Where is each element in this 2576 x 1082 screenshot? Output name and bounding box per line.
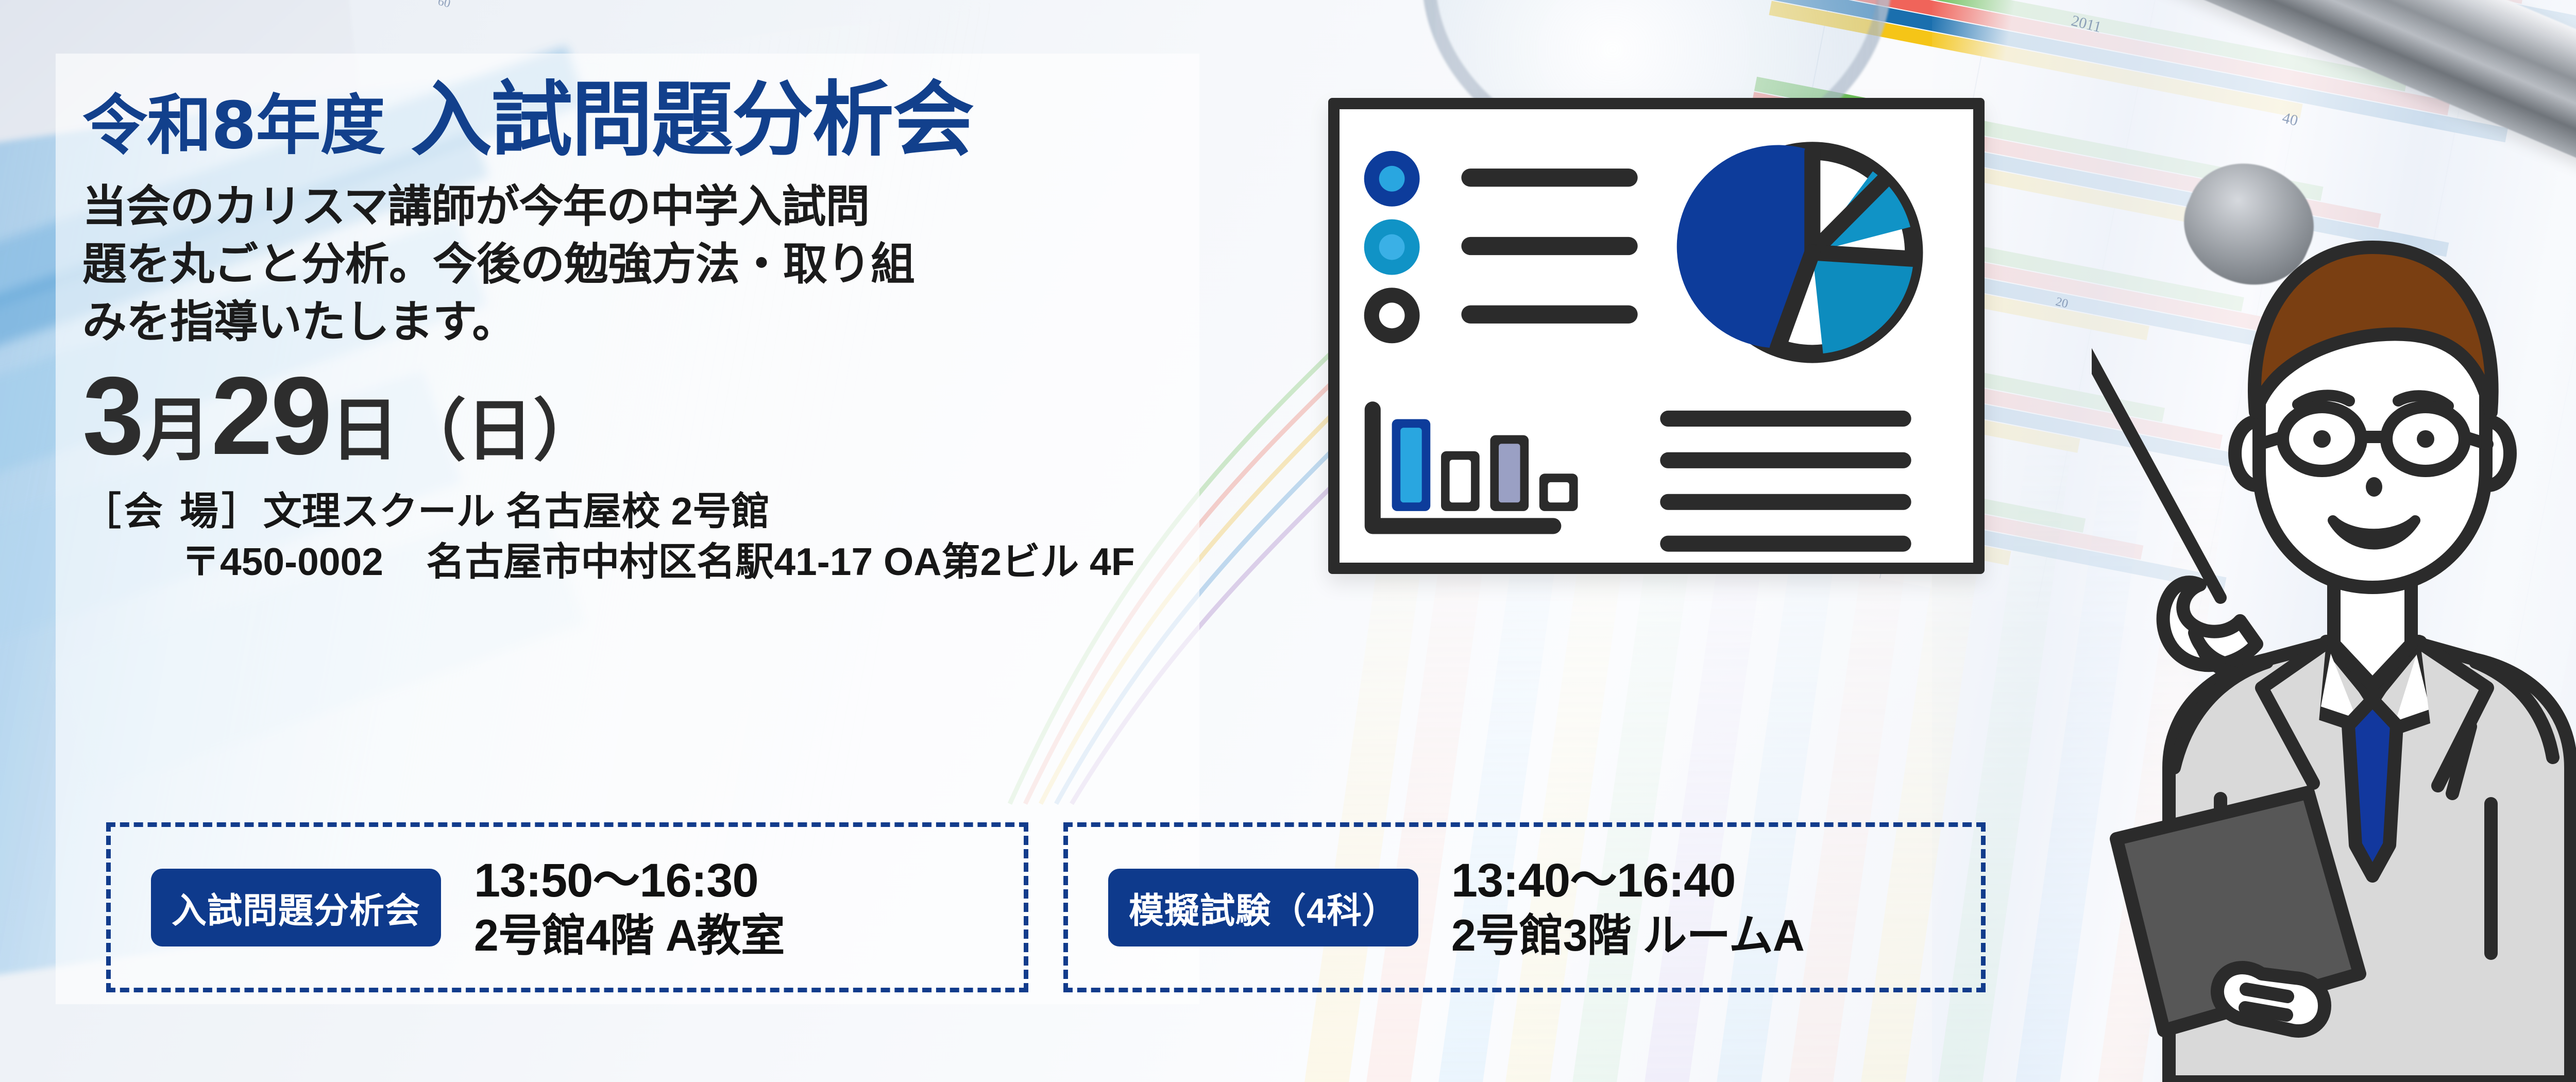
lead-line: みを指導いたします。: [82, 294, 1087, 351]
teacher-character: [2092, 206, 2576, 1082]
date-day-number: 29: [211, 353, 330, 478]
content-block: 令和8年度 入試問題分析会 当会のカリスマ講師が今年の中学入試問 題を丸ごと分析…: [82, 62, 1473, 587]
session-time: 13:50〜16:30: [474, 852, 785, 909]
event-banner: 2011 40 80 100 20 60 令和8年度 入試問題分析会 当会のカリ…: [0, 0, 2576, 1082]
venue-info: ［会 場］文理スクール 名古屋校 2号館 〒450-0002 名古屋市中村区名駅…: [82, 486, 1473, 587]
date-day-kanji: 日: [330, 392, 399, 469]
session-badge: 模擬試験（4科）: [1108, 869, 1418, 946]
text-lines-icon: [1660, 411, 1911, 552]
eye-left: [2313, 430, 2331, 448]
pie-chart-icon: [1677, 145, 1925, 353]
pointer-stick: [2092, 206, 2221, 598]
venue-label: ［会 場］: [82, 489, 263, 533]
date-month-number: 3: [82, 353, 142, 478]
session-room: 2号館3階 ルームA: [1451, 909, 1804, 962]
venue-address: 名古屋市中村区名駅41-17 OA第2ビル 4F: [426, 540, 1134, 583]
date-weekday: （日）: [399, 393, 600, 468]
session-time: 13:40〜16:40: [1451, 852, 1804, 909]
title-prefix: 令和8年度: [82, 88, 385, 163]
venue-name: 文理スクール 名古屋校 2号館: [263, 489, 770, 533]
eye-right: [2417, 430, 2434, 448]
venue-postal: 〒450-0002: [181, 540, 383, 583]
session-details: 13:40〜16:40 2号館3階 ルームA: [1451, 852, 1804, 962]
nose: [2366, 477, 2382, 497]
event-date: 3月29日（日）: [82, 360, 1473, 471]
page-title: 令和8年度 入試問題分析会: [82, 62, 1473, 161]
venue-line-address: 〒450-0002 名古屋市中村区名駅41-17 OA第2ビル 4F: [181, 537, 1473, 587]
title-main: 入試問題分析会: [411, 73, 973, 167]
session-details: 13:50〜16:30 2号館4階 A教室: [474, 852, 785, 962]
session-boxes: 入試問題分析会 13:50〜16:30 2号館4階 A教室 模擬試験（4科） 1…: [106, 822, 1986, 992]
session-room: 2号館4階 A教室: [474, 909, 785, 962]
date-month-kanji: 月: [142, 392, 211, 469]
necktie: [2348, 700, 2397, 876]
session-badge: 入試問題分析会: [151, 869, 441, 946]
lead-line: 当会のカリスマ講師が今年の中学入試問: [82, 178, 1087, 236]
session-box-mock-exam: 模擬試験（4科） 13:40〜16:40 2号館3階 ルームA: [1063, 822, 1986, 992]
venue-line-name: ［会 場］文理スクール 名古屋校 2号館: [82, 486, 1473, 537]
lead-paragraph: 当会のカリスマ講師が今年の中学入試問 題を丸ごと分析。今後の勉強方法・取り組 み…: [82, 178, 1087, 351]
lead-line: 題を丸ごと分析。今後の勉強方法・取り組: [82, 236, 1087, 294]
session-box-analysis: 入試問題分析会 13:50〜16:30 2号館4階 A教室: [106, 822, 1028, 992]
